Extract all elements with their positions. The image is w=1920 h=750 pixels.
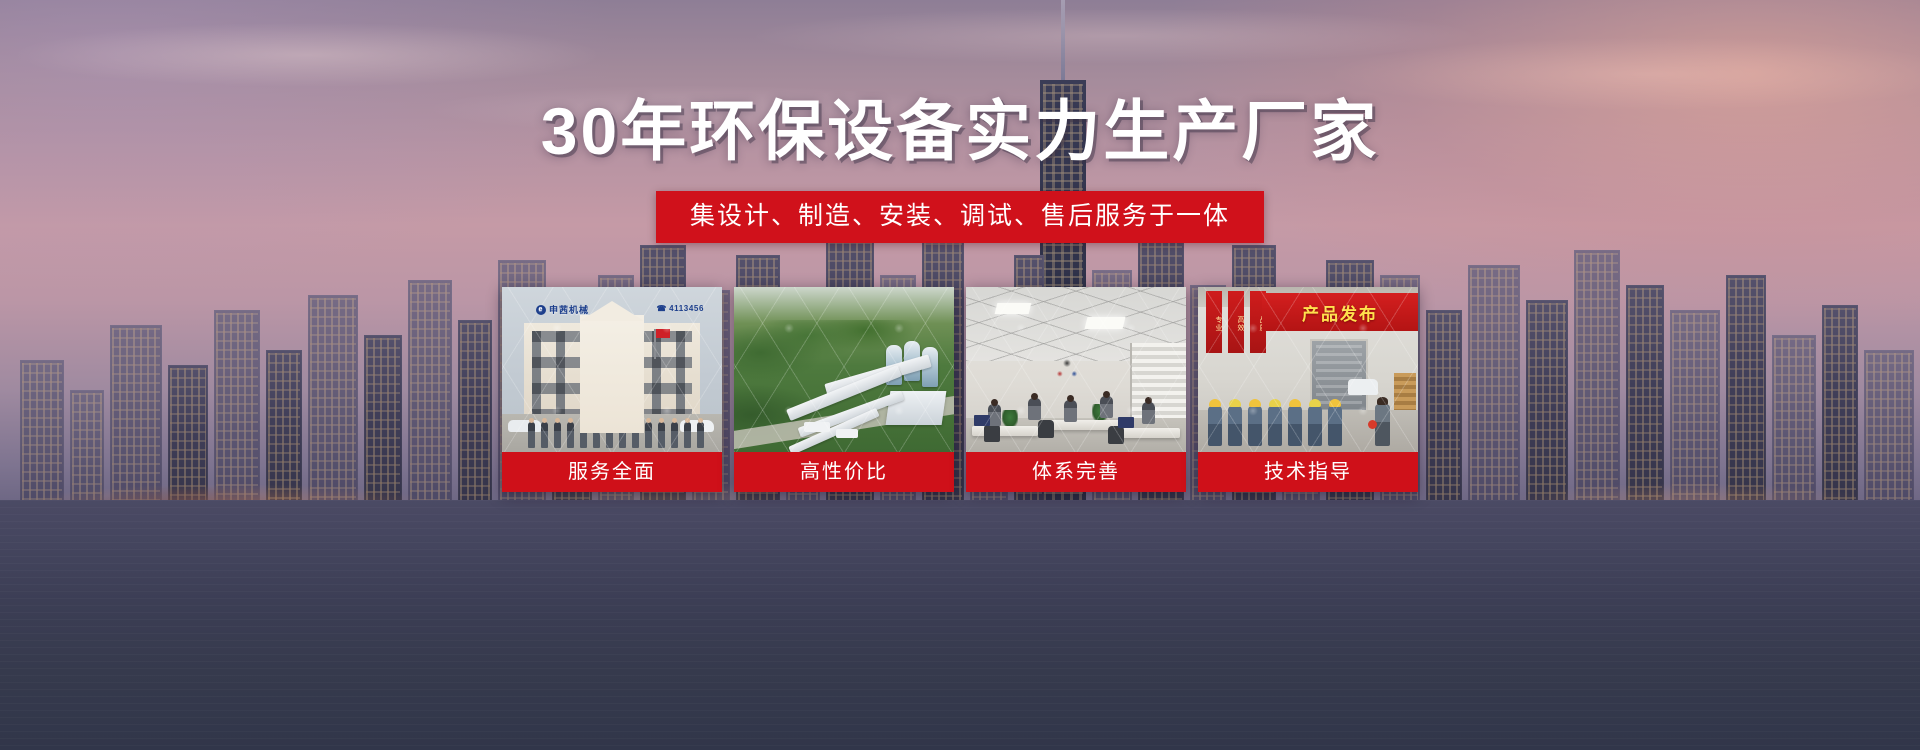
banner-content: 30年环保设备实力生产厂家 集设计、制造、安装、调试、售后服务于一体 e 申茜机… <box>0 0 1920 750</box>
building-sign: e 申茜机械 <box>536 303 589 316</box>
feature-card-label: 服务全面 <box>502 452 722 492</box>
feature-card[interactable]: e 申茜机械 ☎ 4113456 <box>502 287 722 492</box>
company-sign-text: 申茜机械 <box>549 303 589 316</box>
feature-card[interactable]: 体系完善 <box>966 287 1186 492</box>
feature-card[interactable]: 高性价比 <box>734 287 954 492</box>
factory-banner-text: 产品发布 <box>1262 293 1418 331</box>
wall-emblem <box>1052 357 1082 385</box>
aerial-plant-photo <box>734 287 954 452</box>
vertical-banner: 高效 <box>1228 291 1244 353</box>
building-phone: ☎ 4113456 <box>657 304 704 313</box>
flag-icon <box>654 329 656 359</box>
feature-card[interactable]: 专业 高效 品质 产品发布 <box>1198 287 1418 492</box>
phone-number: 4113456 <box>669 304 704 313</box>
feature-card-row: e 申茜机械 ☎ 4113456 <box>502 287 1418 492</box>
office-team-photo <box>966 287 1186 452</box>
feature-card-label: 体系完善 <box>966 452 1186 492</box>
feature-card-label: 技术指导 <box>1198 452 1418 492</box>
factory-workers-photo: 专业 高效 品质 产品发布 <box>1198 287 1418 452</box>
hero-banner: 30年环保设备实力生产厂家 集设计、制造、安装、调试、售后服务于一体 e 申茜机… <box>0 0 1920 750</box>
subtitle-banner: 集设计、制造、安装、调试、售后服务于一体 <box>656 191 1264 243</box>
page-title: 30年环保设备实力生产厂家 <box>541 98 1379 164</box>
vertical-banner: 专业 <box>1206 291 1222 353</box>
feature-card-label: 高性价比 <box>734 452 954 492</box>
company-headquarters-photo: e 申茜机械 ☎ 4113456 <box>502 287 722 452</box>
company-logo-icon: e <box>536 305 546 315</box>
phone-icon: ☎ <box>657 304 668 313</box>
